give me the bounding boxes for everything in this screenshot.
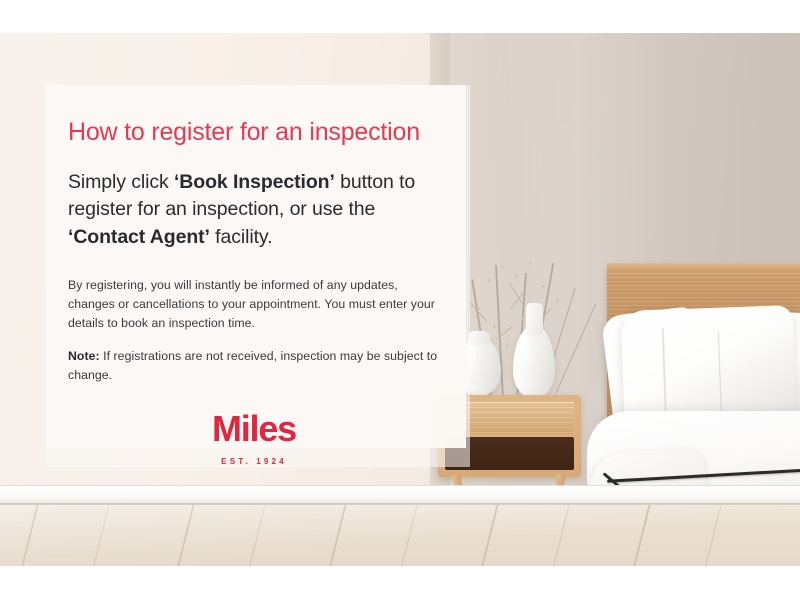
headboard-top-edge (607, 263, 800, 270)
logo-wordmark: Miles (68, 411, 440, 447)
letterbox-top (0, 0, 800, 33)
brand-logo: Miles EST. 1924 (68, 411, 440, 466)
floor (0, 505, 800, 566)
lead-line1-post: button (335, 171, 394, 193)
page-title: How to register for an inspection (68, 119, 440, 147)
note-label: Note: (68, 349, 100, 363)
vase-tall-neck (526, 303, 543, 335)
lead-paragraph: Simply click ‘Book Inspection’ button to… (68, 169, 440, 252)
vase-round-neck (468, 331, 490, 345)
vase-tall (513, 326, 555, 398)
letterbox-bottom (0, 566, 800, 600)
bedroom-photo: How to register for an inspection Simply… (0, 33, 800, 566)
registration-info-paragraph: By registering, you will instantly be in… (68, 276, 440, 333)
screenshot-canvas: How to register for an inspection Simply… (0, 0, 800, 600)
note-text: If registrations are not received, inspe… (68, 349, 437, 382)
info-panel: How to register for an inspection Simply… (46, 85, 466, 448)
skirting-board (0, 485, 800, 505)
note-paragraph: Note: If registrations are not received,… (68, 347, 440, 385)
logo-tagline: EST. 1924 (68, 457, 440, 466)
lead-line1-pre: Simply click (68, 171, 174, 193)
contact-agent-label: ‘Contact Agent’ (68, 226, 210, 248)
book-inspection-label: ‘Book Inspection’ (174, 171, 335, 193)
lead-line3-post: facility. (210, 226, 273, 248)
